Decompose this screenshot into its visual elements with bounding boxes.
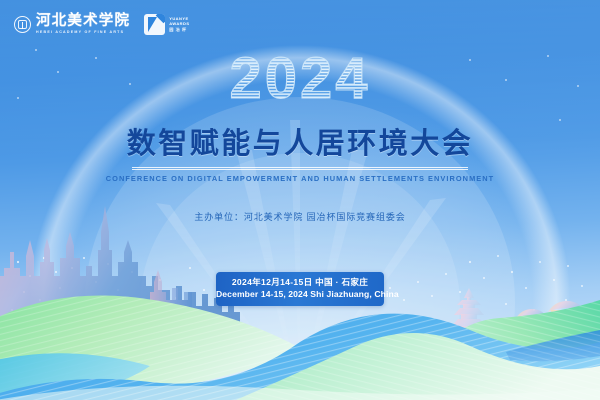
- hebei-academy-seal-icon: [14, 16, 31, 33]
- yuanye-awards-mark-icon: [144, 14, 165, 35]
- logo-yuanye-awards-text: YUANYE AWARDS 园冶杯: [169, 16, 189, 32]
- title-divider-rules: [132, 167, 468, 170]
- organizer-line: 主办单位：河北美术学院 园冶杯国际竞赛组委会: [194, 210, 405, 223]
- year-2024-outline: 2024: [229, 50, 370, 106]
- logo-hebei-academy-text: 河北美术学院 HEBEI ACADEMY OF FINE ARTS: [36, 14, 130, 35]
- poster-content: 2024 2024 数智赋能与人居环境大会 CONFERENCE ON DIGI…: [0, 0, 600, 400]
- logo-yuanye-awards[interactable]: YUANYE AWARDS 园冶杯: [144, 14, 189, 35]
- year-2024-graphic: 2024 2024: [210, 50, 390, 106]
- logo-bar: 河北美术学院 HEBEI ACADEMY OF FINE ARTS YUANYE…: [14, 14, 189, 35]
- event-date-badge: 2024年12月14-15日 中国 · 石家庄 December 14-15, …: [216, 272, 384, 306]
- logo-yuanye-line2: AWARDS: [169, 21, 189, 26]
- year-headline: 2024 2024: [210, 50, 390, 106]
- page-subtitle: CONFERENCE ON DIGITAL EMPOWERMENT AND HU…: [106, 174, 494, 183]
- logo-hebei-academy[interactable]: 河北美术学院 HEBEI ACADEMY OF FINE ARTS: [14, 14, 130, 35]
- logo-hebei-academy-name-en: HEBEI ACADEMY OF FINE ARTS: [36, 31, 130, 35]
- conference-poster: 河北美术学院 HEBEI ACADEMY OF FINE ARTS YUANYE…: [0, 0, 600, 400]
- logo-hebei-academy-name-cn: 河北美术学院: [36, 14, 130, 29]
- page-title: 数智赋能与人居环境大会: [127, 120, 474, 162]
- event-date-cn: 2024年12月14-15日 中国 · 石家庄: [216, 277, 384, 289]
- event-date-en: December 14-15, 2024 Shi Jiazhuang, Chin…: [216, 289, 384, 301]
- logo-yuanye-name-cn: 园冶杯: [169, 27, 189, 32]
